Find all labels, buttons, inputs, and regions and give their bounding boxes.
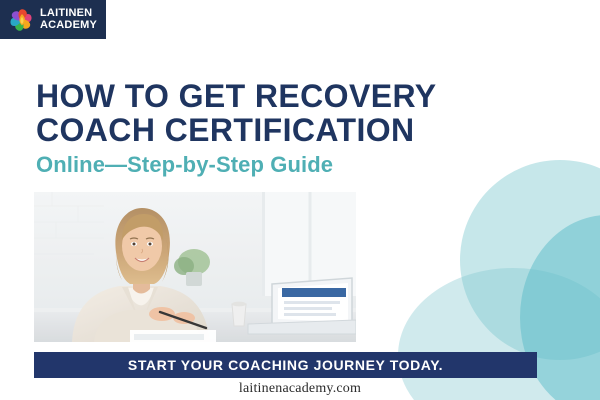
headline-block: HOW TO GET RECOVERY COACH CERTIFICATION … <box>36 80 536 177</box>
teal-circle-light-icon <box>460 160 600 360</box>
poster-canvas: LAITINEN ACADEMY HOW TO GET RECOVERY COA… <box>0 0 600 400</box>
brand-logo-badge[interactable]: LAITINEN ACADEMY <box>0 0 106 39</box>
brand-name-line2: ACADEMY <box>40 20 97 31</box>
office-woman-laptop-photo-icon <box>34 192 356 342</box>
cta-banner[interactable]: START YOUR COACHING JOURNEY TODAY. <box>34 352 537 378</box>
headline-line-1: HOW TO GET RECOVERY <box>36 80 536 114</box>
pinwheel-petals-icon <box>6 5 36 35</box>
website-url[interactable]: laitinenacademy.com <box>0 381 600 397</box>
headline-line-2: COACH CERTIFICATION <box>36 114 536 148</box>
brand-name-line1: LAITINEN <box>40 8 97 19</box>
cta-banner-text: START YOUR COACHING JOURNEY TODAY. <box>128 357 443 373</box>
brand-logo-wordmark: LAITINEN ACADEMY <box>40 8 97 30</box>
headline-subtitle: Online—Step-by-Step Guide <box>36 153 536 177</box>
hero-photo <box>34 192 356 342</box>
